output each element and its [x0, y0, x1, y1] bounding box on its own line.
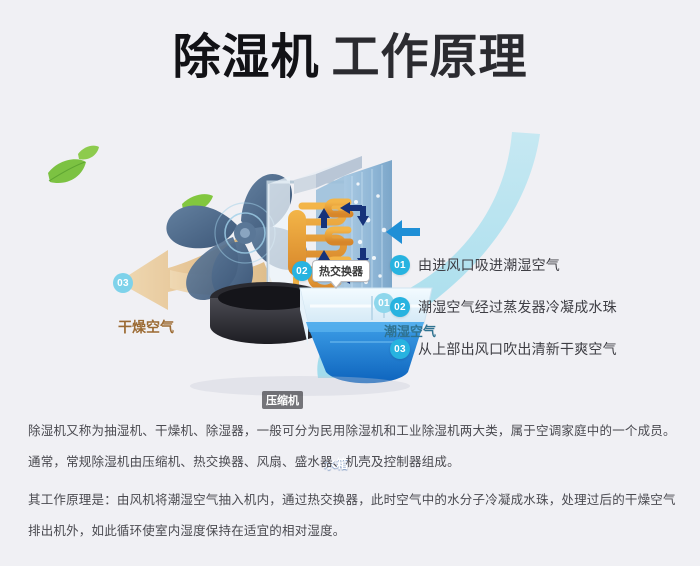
paragraph-2-line-2: 排出机外，如此循环使室内湿度保持在适宜的相对湿度。	[28, 520, 678, 542]
label-compressor: 压缩机	[262, 391, 303, 409]
label-heat-exchanger: 热交换器	[312, 260, 370, 282]
legend-badge-02: 02	[390, 297, 410, 317]
paragraph-1-line-2: 通常，常规除湿机由压缩机、热交换器、风扇、盛水器、机壳及控制器组成。	[28, 451, 678, 473]
label-dry-air: 干燥空气	[118, 317, 174, 337]
diagram-badge-02: 02	[292, 261, 312, 281]
legend-text-02: 潮湿空气经过蒸发器冷凝成水珠	[418, 297, 617, 317]
description-copy: 除湿机又称为抽湿机、干燥机、除湿器，一般可分为民用除湿机和工业除湿机两大类，属于…	[28, 420, 678, 551]
legend-list: 01 由进风口吸进潮湿空气 02 潮湿空气经过蒸发器冷凝成水珠 03 从上部出风…	[390, 255, 690, 381]
paragraph-2-line-1: 其工作原理是：由风机将潮湿空气抽入机内，通过热交换器，此时空气中的水分子冷凝成水…	[28, 489, 678, 511]
page-root: 除湿机工作原理	[0, 0, 700, 566]
legend-badge-03: 03	[390, 339, 410, 359]
title-part-1: 除湿机	[172, 31, 319, 84]
legend-item-02: 02 潮湿空气经过蒸发器冷凝成水珠	[390, 297, 690, 317]
title-part-2: 工作原理	[332, 31, 528, 84]
legend-text-01: 由进风口吸进潮湿空气	[418, 255, 560, 275]
legend-item-01: 01 由进风口吸进潮湿空气	[390, 255, 690, 275]
paragraph-1-line-1: 除湿机又称为抽湿机、干燥机、除湿器，一般可分为民用除湿机和工业除湿机两大类，属于…	[28, 420, 678, 442]
legend-text-03: 从上部出风口吹出清新干爽空气	[418, 339, 617, 359]
legend-item-03: 03 从上部出风口吹出清新干爽空气	[390, 339, 690, 359]
legend-badge-01: 01	[390, 255, 410, 275]
diagram-badge-03: 03	[113, 273, 133, 293]
page-title: 除湿机工作原理	[0, 28, 700, 88]
